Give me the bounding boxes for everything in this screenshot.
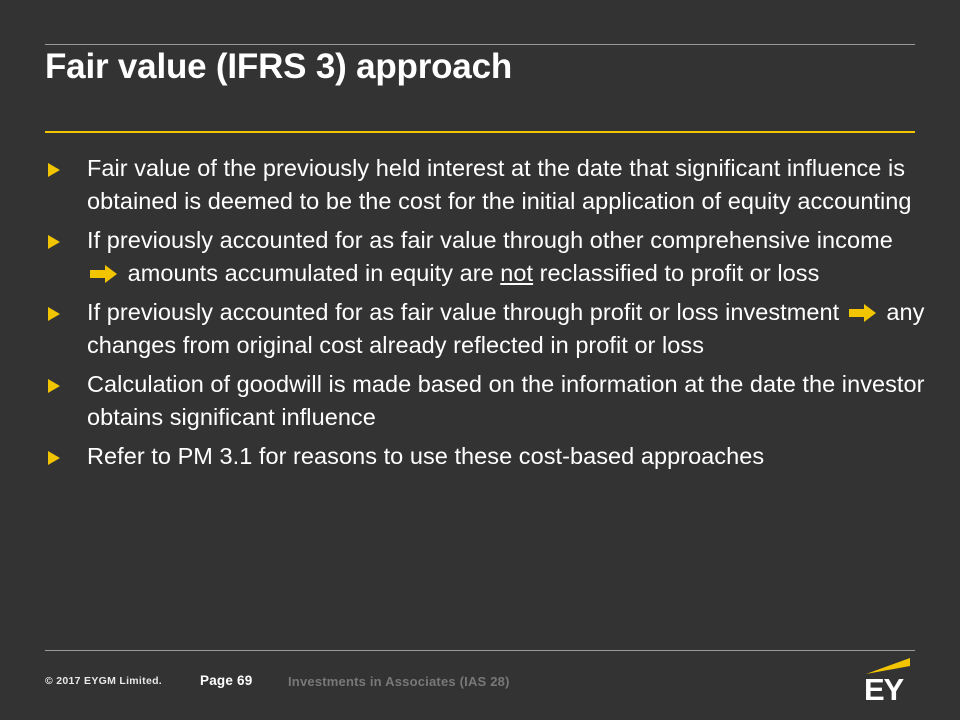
emphasis-text: not bbox=[500, 260, 533, 286]
page-number: Page 69 bbox=[200, 673, 252, 688]
bullet-item: Refer to PM 3.1 for reasons to use these… bbox=[45, 440, 925, 473]
triangle-right-icon bbox=[48, 163, 60, 177]
triangle-right-icon bbox=[48, 379, 60, 393]
bullet-text: Fair value of the previously held intere… bbox=[87, 155, 912, 214]
triangle-right-icon bbox=[48, 307, 60, 321]
ey-logo-text: EY bbox=[864, 674, 903, 705]
ey-logo: EY bbox=[864, 657, 928, 705]
deck-title: Investments in Associates (IAS 28) bbox=[288, 674, 510, 689]
header-divider bbox=[45, 44, 915, 45]
bullet-text: If previously accounted for as fair valu… bbox=[87, 299, 846, 325]
footer-divider bbox=[45, 650, 915, 651]
title-accent-divider bbox=[45, 131, 915, 133]
block-arrow-right-icon bbox=[849, 304, 876, 322]
bullet-item: If previously accounted for as fair valu… bbox=[45, 296, 925, 361]
copyright-text: © 2017 EYGM Limited. bbox=[45, 675, 162, 687]
bullet-text: amounts accumulated in equity are bbox=[121, 260, 500, 286]
bullet-list: Fair value of the previously held intere… bbox=[45, 152, 925, 480]
bullet-text: Calculation of goodwill is made based on… bbox=[87, 371, 925, 430]
bullet-text: reclassified to profit or loss bbox=[533, 260, 819, 286]
triangle-right-icon bbox=[48, 451, 60, 465]
bullet-text: If previously accounted for as fair valu… bbox=[87, 227, 893, 253]
bullet-item: Calculation of goodwill is made based on… bbox=[45, 368, 925, 433]
block-arrow-right-icon bbox=[90, 265, 117, 283]
slide-title: Fair value (IFRS 3) approach bbox=[45, 47, 925, 87]
triangle-right-icon bbox=[48, 235, 60, 249]
bullet-item: Fair value of the previously held intere… bbox=[45, 152, 925, 217]
slide: Fair value (IFRS 3) approach Fair value … bbox=[0, 0, 960, 720]
bullet-text: Refer to PM 3.1 for reasons to use these… bbox=[87, 443, 764, 469]
bullet-item: If previously accounted for as fair valu… bbox=[45, 224, 925, 289]
